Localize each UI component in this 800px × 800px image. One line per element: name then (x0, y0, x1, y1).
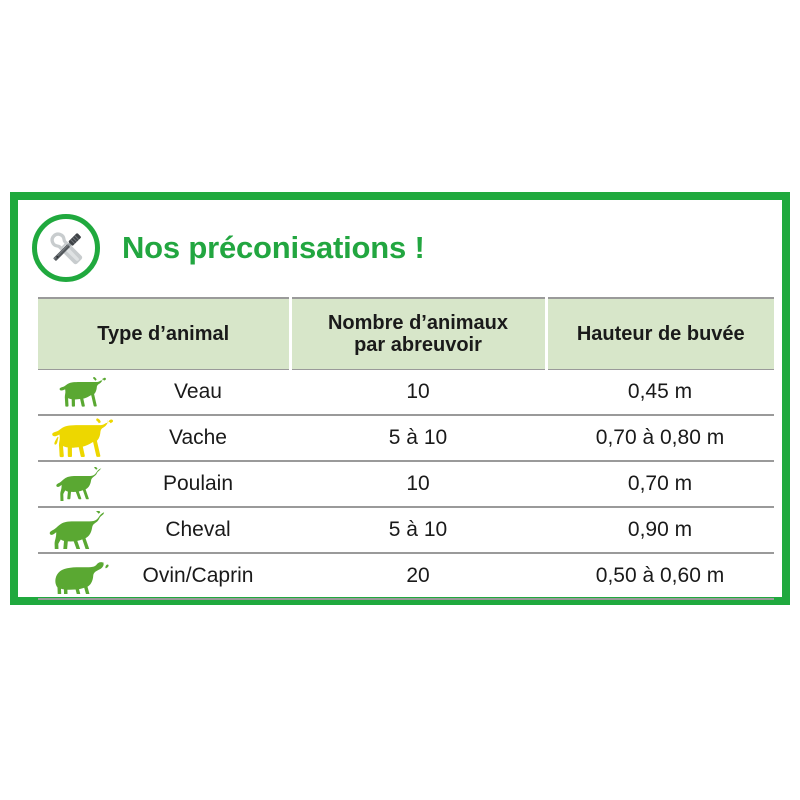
recommendations-table: Type d’animal Nombre d’animaux par abreu… (38, 297, 774, 600)
animal-name: Veau (124, 380, 290, 404)
animal-name: Ovin/Caprin (124, 564, 290, 588)
cell-animal-count: 20 (290, 553, 546, 599)
table-row: Veau 10 0,45 m (38, 370, 774, 416)
table-header: Type d’animal Nombre d’animaux par abreu… (38, 298, 774, 370)
column-header-animal-count-line2: par abreuvoir (354, 334, 482, 356)
cell-animal-count: 10 (290, 370, 546, 416)
table-row: Ovin/Caprin 20 0,50 à 0,60 m (38, 553, 774, 599)
wrench-screwdriver-icon (32, 214, 100, 282)
cell-drinking-height: 0,70 à 0,80 m (546, 415, 774, 461)
table-row: Poulain 10 0,70 m (38, 461, 774, 507)
cell-animal-count: 5 à 10 (290, 415, 546, 461)
cell-drinking-height: 0,50 à 0,60 m (546, 553, 774, 599)
cell-drinking-height: 0,90 m (546, 507, 774, 553)
cow-icon (38, 416, 124, 460)
animal-name: Vache (124, 426, 290, 450)
page-title: Nos préconisations ! (122, 230, 425, 266)
column-header-animal-count: Nombre d’animaux par abreuvoir (290, 298, 546, 370)
cell-drinking-height: 0,70 m (546, 461, 774, 507)
cell-animal-count: 10 (290, 461, 546, 507)
cell-animal-count: 5 à 10 (290, 507, 546, 553)
sheep-icon (38, 554, 124, 598)
column-header-drinking-height: Hauteur de buvée (546, 298, 774, 370)
cell-animal-type: Vache (38, 415, 290, 461)
table-header-row: Type d’animal Nombre d’animaux par abreu… (38, 298, 774, 370)
table-row: Cheval 5 à 10 0,90 m (38, 507, 774, 553)
foal-icon (38, 462, 124, 506)
animal-name: Cheval (124, 518, 290, 542)
column-header-animal-type: Type d’animal (38, 298, 290, 370)
card-title-row: Nos préconisations ! (32, 208, 425, 288)
cell-animal-type: Ovin/Caprin (38, 553, 290, 599)
column-header-animal-count-line1: Nombre d’animaux (328, 312, 508, 334)
cell-drinking-height: 0,45 m (546, 370, 774, 416)
table-body: Veau 10 0,45 m (38, 370, 774, 600)
table-row: Vache 5 à 10 0,70 à 0,80 m (38, 415, 774, 461)
cell-animal-type: Cheval (38, 507, 290, 553)
calf-icon (38, 370, 124, 414)
animal-name: Poulain (124, 472, 290, 496)
recommendations-card: Nos préconisations ! Type d’animal Nombr… (10, 192, 790, 605)
cell-animal-type: Poulain (38, 461, 290, 507)
cell-animal-type: Veau (38, 370, 290, 416)
horse-icon (38, 508, 124, 552)
